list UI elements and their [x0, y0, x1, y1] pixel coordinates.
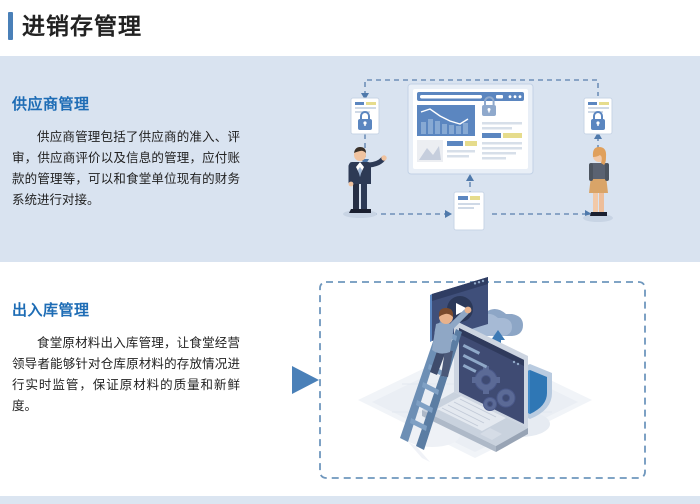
illustration-supplier	[320, 66, 690, 248]
page-root: 进销存管理 供应商管理 供应商管理包括了供应商的准入、评审，供应商评价以及信息的…	[0, 0, 700, 504]
section-body-stock: 食堂原材料出入库管理，让食堂经营领导者能够针对仓库原材料的存放情况进行实时监管，…	[12, 333, 240, 417]
footer-band	[0, 496, 700, 504]
section-heading-supplier: 供应商管理	[12, 93, 90, 114]
document-card-lock-right	[584, 98, 612, 134]
dashboard-browser-window	[408, 84, 533, 174]
businesswoman-figure	[583, 147, 613, 222]
document-card-bottom	[454, 192, 484, 230]
page-header: 进销存管理	[0, 0, 700, 56]
document-card-lock-left	[351, 98, 379, 134]
illustration-stock	[282, 272, 662, 488]
section-heading-stock: 出入库管理	[12, 299, 90, 320]
section-body-supplier: 供应商管理包括了供应商的准入、评审，供应商评价以及信息的管理，应付账款的管理等，…	[12, 127, 240, 211]
title-accent-bar	[8, 12, 13, 40]
left-triangle-pointer	[292, 366, 319, 394]
page-title: 进销存管理	[22, 10, 142, 42]
businessman-figure	[343, 147, 387, 218]
